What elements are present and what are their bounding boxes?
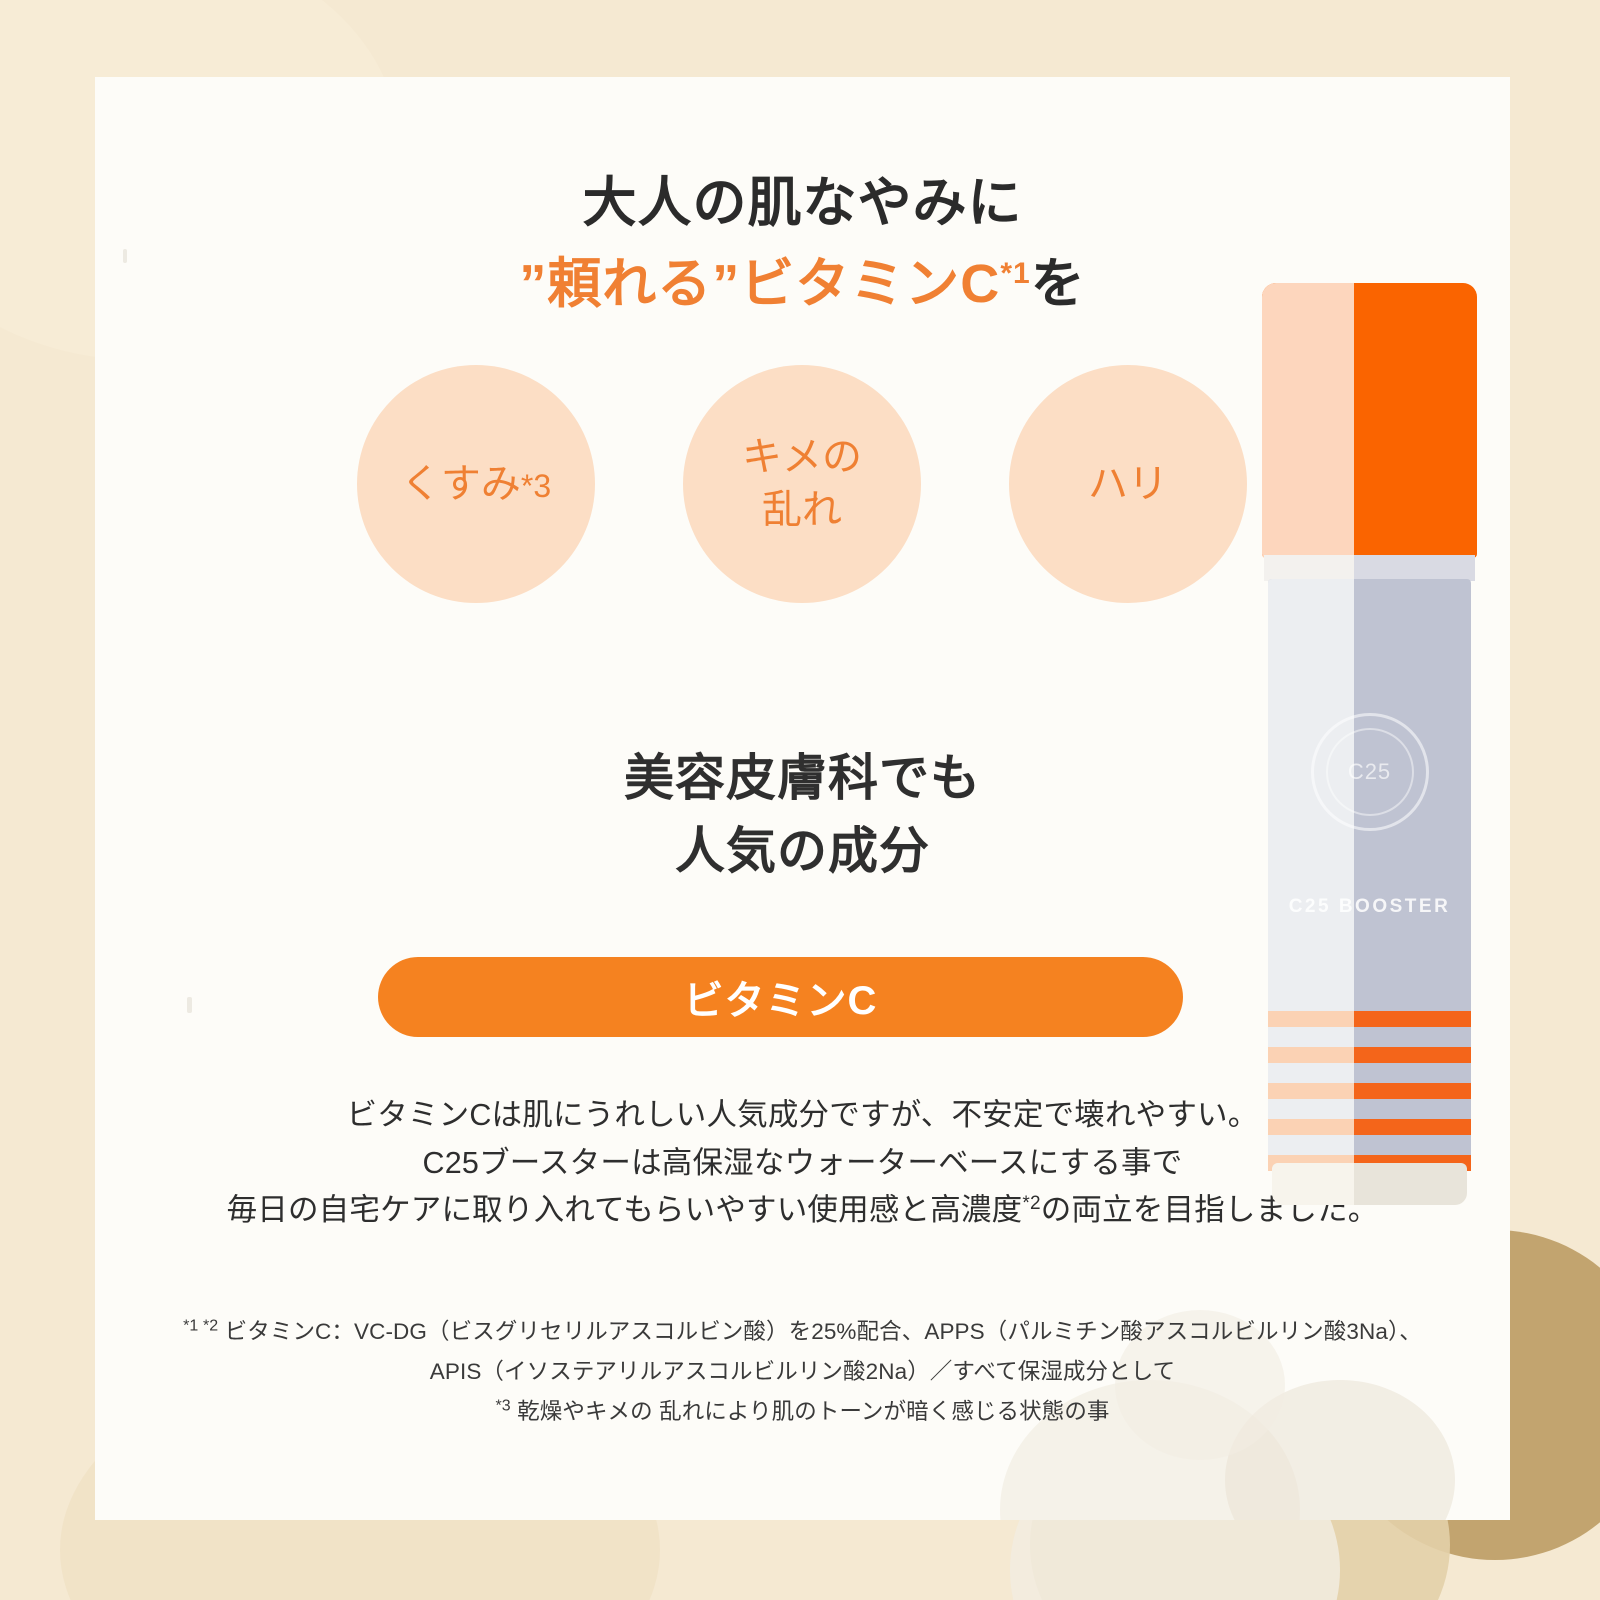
concern-circle-hari: ハリ [1009, 365, 1247, 603]
footnote-line-1: *1 *2 ビタミンC：VC-DG（ビスグリセリルアスコルビン酸）を25%配合、… [95, 1312, 1510, 1352]
concern-circle-kusumi-text: くすみ*3 [401, 458, 551, 511]
concern-circle-kime: キメの 乱れ [683, 365, 921, 603]
bottle-collar-highlight [1264, 555, 1354, 581]
headline-line-2-suffix: を [1031, 254, 1086, 314]
vitamin-c-badge-label: ビタミンC [684, 968, 878, 1026]
vitamin-c-badge: ビタミンC [378, 957, 1183, 1037]
headline-line-2-highlight: ”頼れる”ビタミンC [519, 254, 1000, 314]
headline-line-1: 大人の肌なやみに [95, 165, 1510, 242]
body-copy-footnote-mark: *2 [1022, 1193, 1040, 1214]
bottle-stripes [1268, 1011, 1471, 1179]
card-speck-2 [187, 997, 192, 1013]
bottle-stripe-3-highlight [1268, 1083, 1354, 1099]
concern-label-kime-line2: 乱れ [742, 484, 862, 537]
bottle-cap-highlight [1262, 283, 1354, 558]
bottle-base-highlight [1272, 1163, 1354, 1205]
footnote-text-3: 乾燥やキメの 乱れにより肌のトーンが暗く感じる状態の事 [517, 1399, 1109, 1424]
headline-footnote-mark: *1 [1000, 257, 1030, 290]
body-copy-line-3-prefix: 毎日の自宅ケアに取り入れてもらいやすい使用感と高濃度 [227, 1193, 1023, 1227]
footnote-text-1: ビタミンC：VC-DG（ビスグリセリルアスコルビン酸）を25%配合、APPS（パ… [225, 1319, 1422, 1344]
concern-circle-group: くすみ*3 キメの 乱れ ハリ [357, 365, 1247, 603]
concern-label-kusumi: くすみ [401, 462, 521, 506]
concern-note-kusumi: *3 [521, 468, 551, 504]
product-bottle: C25 C25 BOOSTER [1262, 283, 1477, 1203]
bottle-emblem-icon: C25 [1311, 713, 1429, 831]
concern-label-kime-line1: キメの [742, 431, 862, 484]
footnote-line-2: APIS（イソステアリルアスコルビルリン酸2Na）／すべて保湿成分として [95, 1352, 1510, 1392]
footnote-mark-3: *3 [495, 1398, 510, 1415]
concern-circle-kime-text: キメの 乱れ [742, 431, 862, 537]
footnote-line-3: *3 乾燥やキメの 乱れにより肌のトーンが暗く感じる状態の事 [95, 1392, 1510, 1432]
footnote-mark-1: *1 *2 [183, 1318, 218, 1335]
bottle-stripe-4-highlight [1268, 1119, 1354, 1135]
concern-label-hari: ハリ [1088, 458, 1168, 511]
bottle-emblem-text: C25 [1326, 728, 1414, 816]
bottle-label: C25 BOOSTER [1262, 896, 1477, 918]
bottle-stripe-2-highlight [1268, 1047, 1354, 1063]
concern-circle-kusumi: くすみ*3 [357, 365, 595, 603]
bottle-stripe-1-highlight [1268, 1011, 1354, 1027]
footnotes: *1 *2 ビタミンC：VC-DG（ビスグリセリルアスコルビン酸）を25%配合、… [95, 1312, 1510, 1432]
